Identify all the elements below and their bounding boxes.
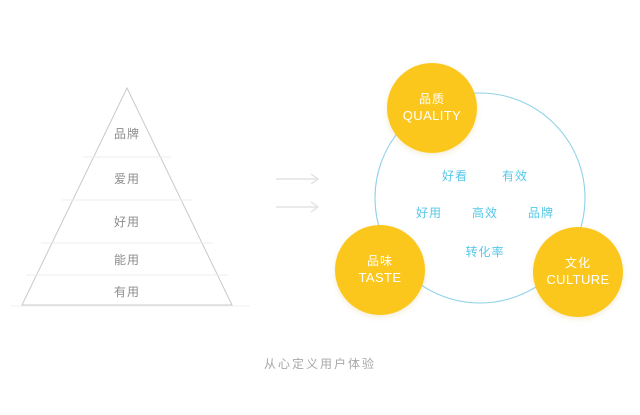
triad-keyword-zhuanhualv: 转化率 <box>465 246 504 258</box>
pyramid-level-capable: 能用 <box>67 254 187 266</box>
transition-arrows <box>272 165 342 225</box>
triad-node-quality-en: QUALITY <box>403 107 461 125</box>
triad-keyword-haoyong: 好用 <box>416 207 442 219</box>
triad-node-culture-en: CULTURE <box>546 271 609 289</box>
pyramid-level-usable: 好用 <box>67 216 187 228</box>
pyramid-level-brand: 品牌 <box>67 128 187 140</box>
triad-node-taste[interactable]: 品味 TASTE <box>335 225 425 315</box>
triad-center-row-1: 好看 有效 <box>340 170 630 182</box>
triad-keyword-youxiao: 有效 <box>502 170 528 182</box>
triad-center-row-2: 好用 高效 品牌 <box>340 207 630 219</box>
user-experience-pyramid: 品牌 爱用 好用 能用 有用 <box>0 70 260 320</box>
figure-caption: 从心定义用户体验 <box>0 355 640 372</box>
pyramid-level-love-to-use: 爱用 <box>67 173 187 185</box>
pyramid-level-useful: 有用 <box>67 286 187 298</box>
triad-keyword-gaoxiao: 高效 <box>472 207 498 219</box>
diagram-canvas: 品牌 爱用 好用 能用 有用 品质 QUALITY 品味 TASTE <box>0 0 640 415</box>
triad-center-row-3: 转化率 <box>340 246 630 258</box>
triad-node-quality-cn: 品质 <box>419 91 445 107</box>
triad-node-taste-en: TASTE <box>359 269 402 287</box>
triad-node-quality[interactable]: 品质 QUALITY <box>387 63 477 153</box>
pyramid-shape <box>0 70 260 320</box>
triad-keyword-pinpai: 品牌 <box>528 207 554 219</box>
triad-keyword-haokan: 好看 <box>442 170 468 182</box>
triad-node-culture[interactable]: 文化 CULTURE <box>533 227 623 317</box>
pyramid-outline <box>22 88 232 305</box>
quality-taste-culture-triad: 品质 QUALITY 品味 TASTE 文化 CULTURE 好看 有效 好用 … <box>340 50 630 340</box>
